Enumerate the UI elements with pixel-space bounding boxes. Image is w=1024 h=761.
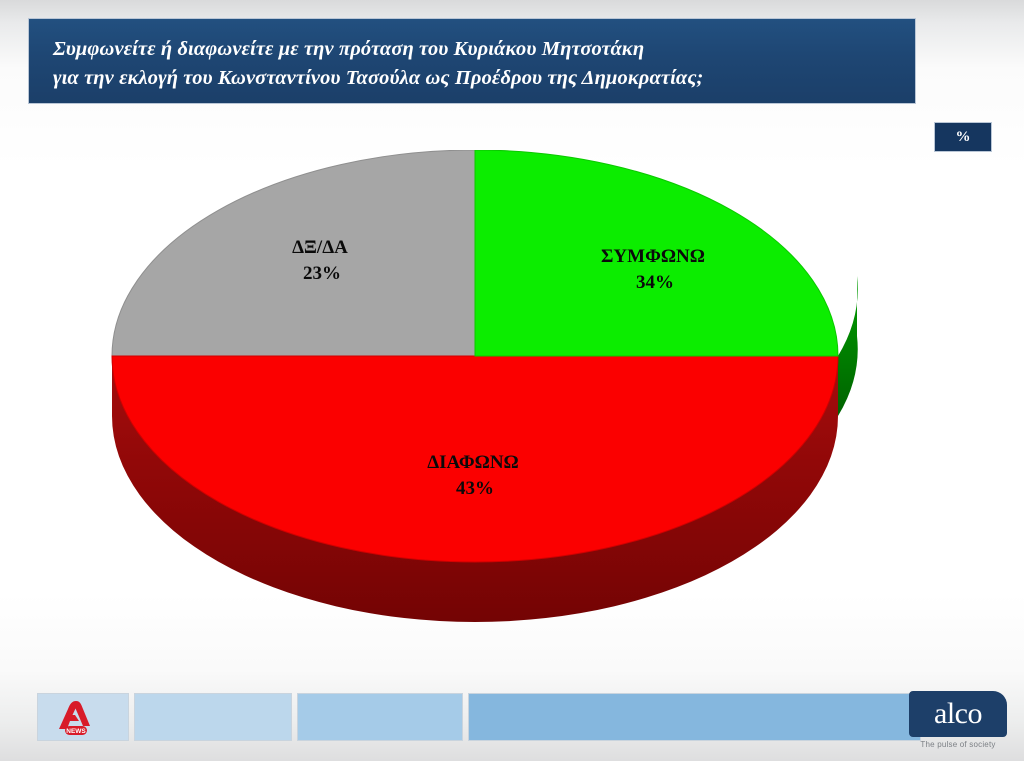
question-title-line-1: Συμφωνείτε ή διαφωνείτε με την πρόταση τ… bbox=[53, 35, 893, 64]
percent-unit-badge: % bbox=[934, 122, 992, 152]
pie-side-wall-symfono bbox=[838, 276, 858, 416]
footer-bar: NEWS alco The pulse of society bbox=[0, 685, 1024, 761]
footer-block-2 bbox=[134, 693, 292, 741]
pie-chart-svg: ΣΥΜΦΩΝΩ 34% ΔΙΑΦΩΝΩ 43% ΔΞ/ΔΑ 23% bbox=[95, 150, 935, 660]
slide-root: Συμφωνείτε ή διαφωνείτε με την πρόταση τ… bbox=[0, 0, 1024, 761]
question-title-line-2: για την εκλογή του Κωνσταντίνου Τασούλα … bbox=[53, 64, 893, 93]
alco-logo-box: alco bbox=[909, 691, 1007, 737]
question-title-bar: Συμφωνείτε ή διαφωνείτε με την πρόταση τ… bbox=[28, 18, 916, 104]
alpha-news-sublabel: NEWS bbox=[66, 728, 86, 735]
alpha-news-logo-icon: NEWS bbox=[55, 699, 99, 737]
alco-tagline: The pulse of society bbox=[909, 740, 1007, 749]
alco-logo: alco The pulse of society bbox=[909, 691, 1007, 755]
slice-label-diafono-name: ΔΙΑΦΩΝΩ bbox=[427, 452, 519, 473]
slice-label-symfono-name: ΣΥΜΦΩΝΩ bbox=[601, 246, 705, 267]
pie-chart: ΣΥΜΦΩΝΩ 34% ΔΙΑΦΩΝΩ 43% ΔΞ/ΔΑ 23% bbox=[95, 150, 935, 660]
footer-block-4 bbox=[468, 693, 921, 741]
slice-label-symfono-value: 34% bbox=[636, 272, 674, 293]
alco-wordmark: alco bbox=[934, 699, 982, 729]
footer-color-blocks bbox=[37, 693, 921, 741]
slice-label-dxda-value: 23% bbox=[303, 263, 341, 284]
slice-label-dxda-name: ΔΞ/ΔΑ bbox=[292, 237, 348, 258]
footer-block-3 bbox=[297, 693, 463, 741]
slice-label-diafono-value: 43% bbox=[456, 478, 494, 499]
